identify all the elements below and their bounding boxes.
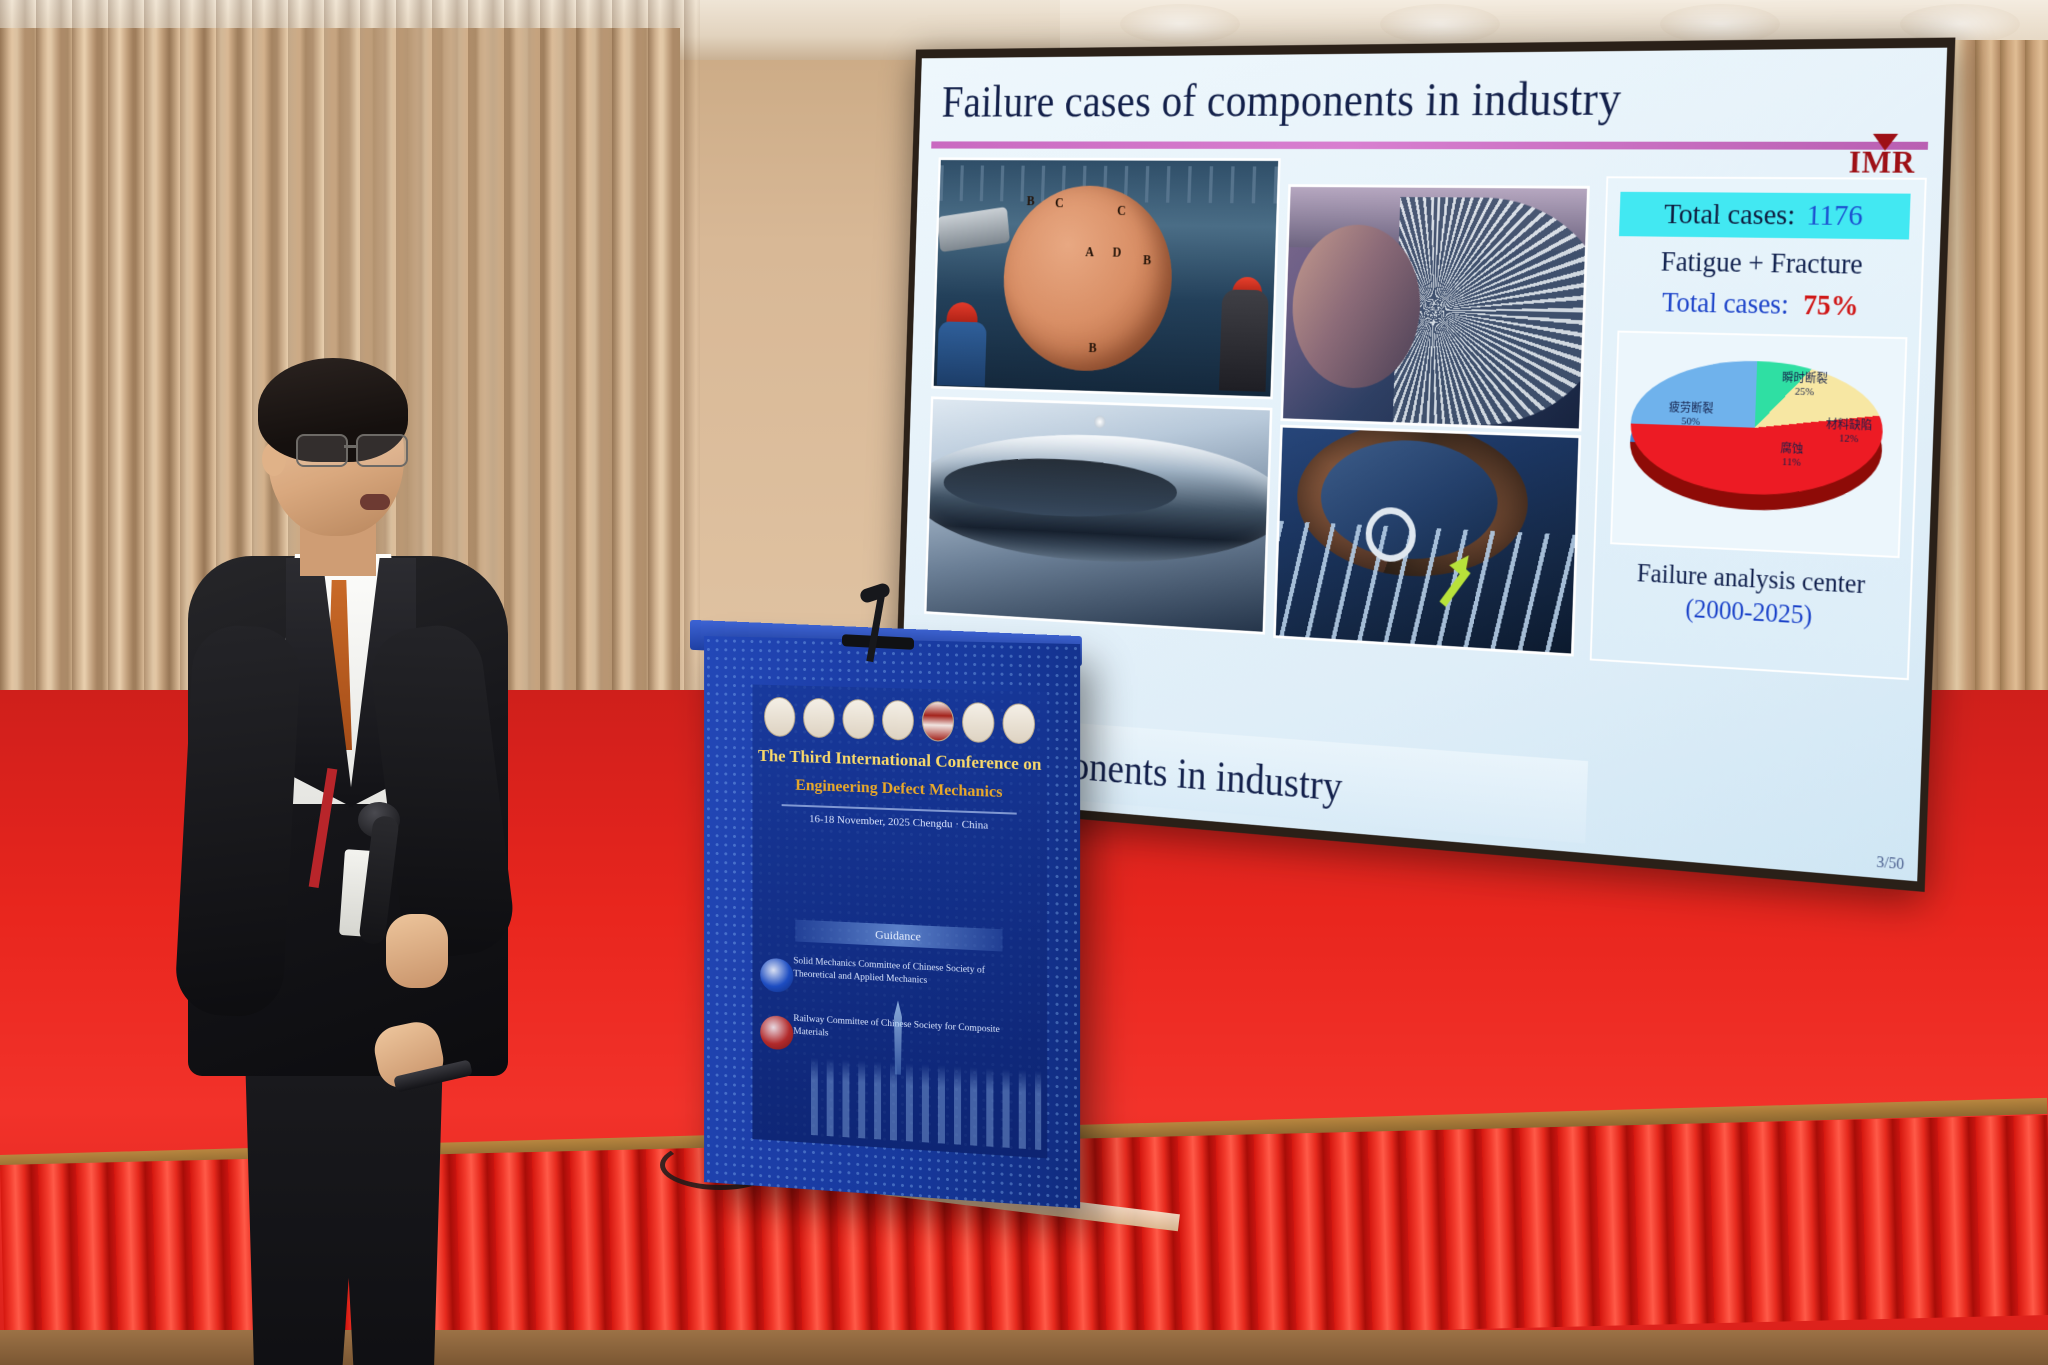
slide-page-number: 3/50 <box>1876 854 1904 874</box>
organisation-logo-icon <box>760 958 793 993</box>
eyeglasses-icon <box>296 434 408 464</box>
eyeglass-lens-right <box>356 434 408 467</box>
pie-label-instantaneous: 瞬时断裂 25% <box>1767 371 1842 399</box>
crest-icon <box>764 697 795 738</box>
imr-logo: IMR <box>1848 144 1916 181</box>
disc-mark-b: B <box>1143 253 1152 269</box>
total-cases-banner: Total cases: 1176 <box>1619 192 1911 240</box>
crest-icon <box>842 699 874 740</box>
conference-presentation-scene: Failure cases of components in industry … <box>0 0 2048 1365</box>
pie-label-fatigue: 疲劳断裂 50% <box>1654 401 1727 429</box>
slide-title: Failure cases of components in industry <box>941 68 1874 127</box>
engine-guide-vanes <box>1276 521 1575 653</box>
presenter-left-arm <box>174 623 302 1018</box>
eyeglass-lens-left <box>296 434 348 467</box>
speaker-podium: The Third International Conference on En… <box>704 636 1080 1208</box>
crest-icon <box>962 702 994 743</box>
conference-title-line1: The Third International Conference on <box>752 746 1047 775</box>
worker-figure <box>937 321 987 386</box>
fatigue-total-line: Total cases: 75% <box>1603 286 1920 324</box>
presenter-hand-holding-mic <box>386 914 448 988</box>
crest-icon <box>882 700 914 741</box>
disc-mark-b: B <box>1088 341 1097 357</box>
total-cases-value: 1176 <box>1806 199 1864 233</box>
ceiling-motif <box>1120 4 1240 44</box>
guidance-label: Guidance <box>795 920 1002 952</box>
photo-steam-turbine-rotor <box>1280 184 1589 431</box>
worker-figure <box>1219 289 1269 391</box>
disc-mark-a: A <box>1085 245 1094 260</box>
ceiling-motif <box>1660 4 1780 44</box>
crest-icon <box>803 698 834 739</box>
organisation-logo-icon <box>760 1015 793 1051</box>
photo-fracture-surface-disc: B C C A D B B <box>931 157 1281 399</box>
pie-canvas: 疲劳断裂 50% 瞬时断裂 25% 材料缺陷 12% 腐蚀 <box>1622 340 1896 535</box>
organisation-name-1: Solid Mechanics Committee of Chinese Soc… <box>793 955 1007 991</box>
fatigue-total-label: Total cases: <box>1661 287 1789 321</box>
podium-branding-panel: The Third International Conference on En… <box>752 685 1047 1159</box>
crest-icon <box>922 701 954 742</box>
conference-date-location: 16-18 November, 2025 Chengdu · China <box>752 811 1047 834</box>
pie-label-corrosion: 腐蚀 11% <box>1763 442 1821 470</box>
crest-icon <box>1002 703 1035 744</box>
ceiling-motif <box>1380 4 1500 44</box>
pie-label-material-defect: 材料缺陷 12% <box>1811 418 1887 447</box>
disc-mark-b: B <box>1026 194 1034 209</box>
failure-type-pie-chart: 疲劳断裂 50% 瞬时断裂 25% 材料缺陷 12% 腐蚀 <box>1610 331 1907 559</box>
statistics-panel: Total cases: 1176 Fatigue + Fracture Tot… <box>1590 176 1927 680</box>
failure-center-footer: Failure analysis center (2000-2025) <box>1593 555 1911 638</box>
title-underline-rule <box>931 141 1928 149</box>
presenter-trousers <box>226 1048 462 1365</box>
photo-engine-casing-damage <box>1273 425 1581 657</box>
organisation-crest-row <box>764 697 1035 745</box>
photo-welded-joint-crack <box>924 396 1272 634</box>
turbine-blade-rows <box>1393 197 1590 429</box>
fatigue-total-value: 75% <box>1803 289 1860 322</box>
disc-mark-c: C <box>1117 204 1126 219</box>
conference-title-line2: Engineering Defect Mechanics <box>752 775 1047 803</box>
presenter <box>190 368 520 1318</box>
disc-mark-c: C <box>1055 196 1064 211</box>
reference-marker <box>1094 415 1106 428</box>
presenter-mouth <box>360 494 390 510</box>
disc-mark-d: D <box>1112 246 1121 262</box>
fatigue-fracture-subtitle: Fatigue + Fracture <box>1605 246 1922 283</box>
city-skyline-graphic <box>811 1057 1041 1149</box>
total-cases-label: Total cases: <box>1663 198 1795 232</box>
